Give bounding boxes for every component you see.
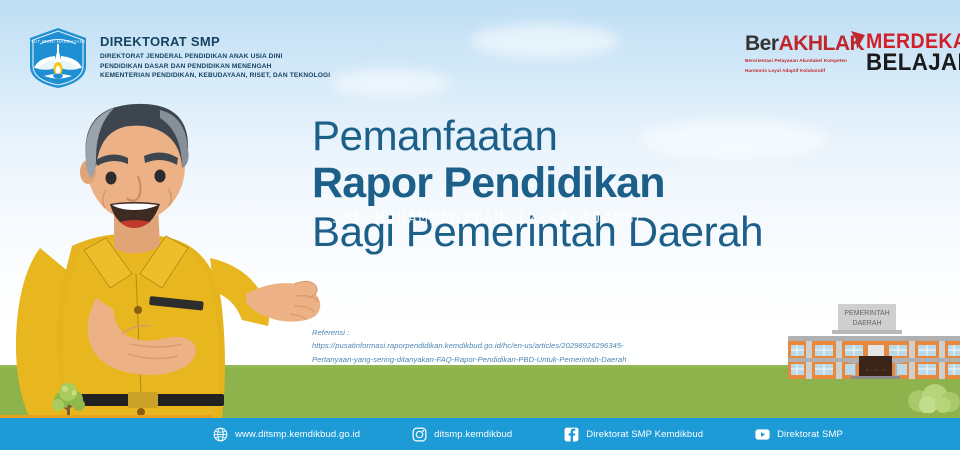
tree-illustration (48, 380, 90, 420)
footer-label-instagram: ditsmp.kemdikbud (434, 429, 512, 440)
reference-url-line-1: https://pusatinformasi.raporpendidikan.k… (312, 339, 732, 352)
header-subtitle-line-3: KEMENTERIAN PENDIDIKAN, KEBUDAYAAN, RISE… (100, 71, 380, 81)
globe-icon (213, 427, 228, 442)
facebook-icon (564, 427, 579, 442)
reference-url-line-2: Pertanyaan-yang-sering-ditanyakan-FAQ-Ra… (312, 353, 732, 366)
youtube-icon (755, 427, 770, 442)
footer-label-facebook: Direktorat SMP Kemdikbud (586, 429, 703, 440)
footer-item-youtube[interactable]: Direktorat SMP (755, 427, 843, 442)
berakhlak-arrow-icon (849, 29, 867, 51)
footer-item-facebook[interactable]: Direktorat SMP Kemdikbud (564, 427, 703, 442)
berakhlak-wordmark: BerAKHLAK (745, 33, 865, 54)
merdeka-belajar-logo: MERDEKA BELAJAR (866, 32, 960, 74)
berakhlak-tagline-1: Berorientasi Pelayanan Akuntabel Kompete… (745, 57, 865, 64)
footer-item-instagram[interactable]: ditsmp.kemdikbud (412, 427, 512, 442)
reference-block: Referensi : https://pusatinformasi.rapor… (312, 326, 732, 366)
instagram-icon (412, 427, 427, 442)
footer-item-website[interactable]: www.ditsmp.kemdikbud.go.id (213, 427, 360, 442)
main-title-line-2: Rapor Pendidikan (312, 159, 912, 208)
main-title-line-1: Pemanfaatan (312, 112, 912, 159)
building-sign-line-1: PEMERINTAH (844, 310, 889, 317)
tut-wuri-handayani-logo: TUT WURI HANDAYANI (26, 26, 90, 90)
footer-label-website: www.ditsmp.kemdikbud.go.id (235, 429, 360, 440)
main-title-line-3: Bagi Pemerintah Daerah (312, 208, 912, 255)
header-subtitle-line-2: PENDIDIKAN DASAR DAN PENDIDIKAN MENENGAH (100, 62, 380, 72)
svg-text:TUT WURI HANDAYANI: TUT WURI HANDAYANI (31, 39, 85, 44)
merdeka-line-2: BELAJAR (866, 52, 960, 74)
government-building-illustration: PEMERINTAH DAERAH (788, 300, 960, 380)
berakhlak-prefix: Ber (745, 32, 779, 55)
presenter-illustration (10, 98, 340, 418)
building-sign-line-2: DAERAH (852, 320, 881, 327)
footer-label-youtube: Direktorat SMP (777, 429, 843, 440)
header-text-block: DIREKTORAT SMP DIREKTORAT JENDERAL PENDI… (100, 35, 380, 81)
banner-root: TUT WURI HANDAYANI DIREKTORAT SMP DIREKT… (0, 0, 960, 450)
reference-label: Referensi : (312, 326, 732, 339)
berakhlak-tagline-2: Harmonis Loyal Adaptif Kolaboratif (745, 67, 865, 74)
bush-illustration (905, 383, 960, 413)
footer-bar: www.ditsmp.kemdikbud.go.id ditsmp.kemdik… (0, 418, 960, 450)
page-title: DIREKTORAT SMP (100, 35, 380, 48)
main-title-block: Pemanfaatan Rapor Pendidikan Bagi Pemeri… (312, 112, 912, 255)
cloud-shape (470, 24, 620, 58)
berakhlak-logo: BerAKHLAK Berorientasi Pelayanan Akuntab… (745, 33, 865, 74)
header-subtitle-line-1: DIREKTORAT JENDERAL PENDIDIKAN ANAK USIA… (100, 52, 380, 62)
